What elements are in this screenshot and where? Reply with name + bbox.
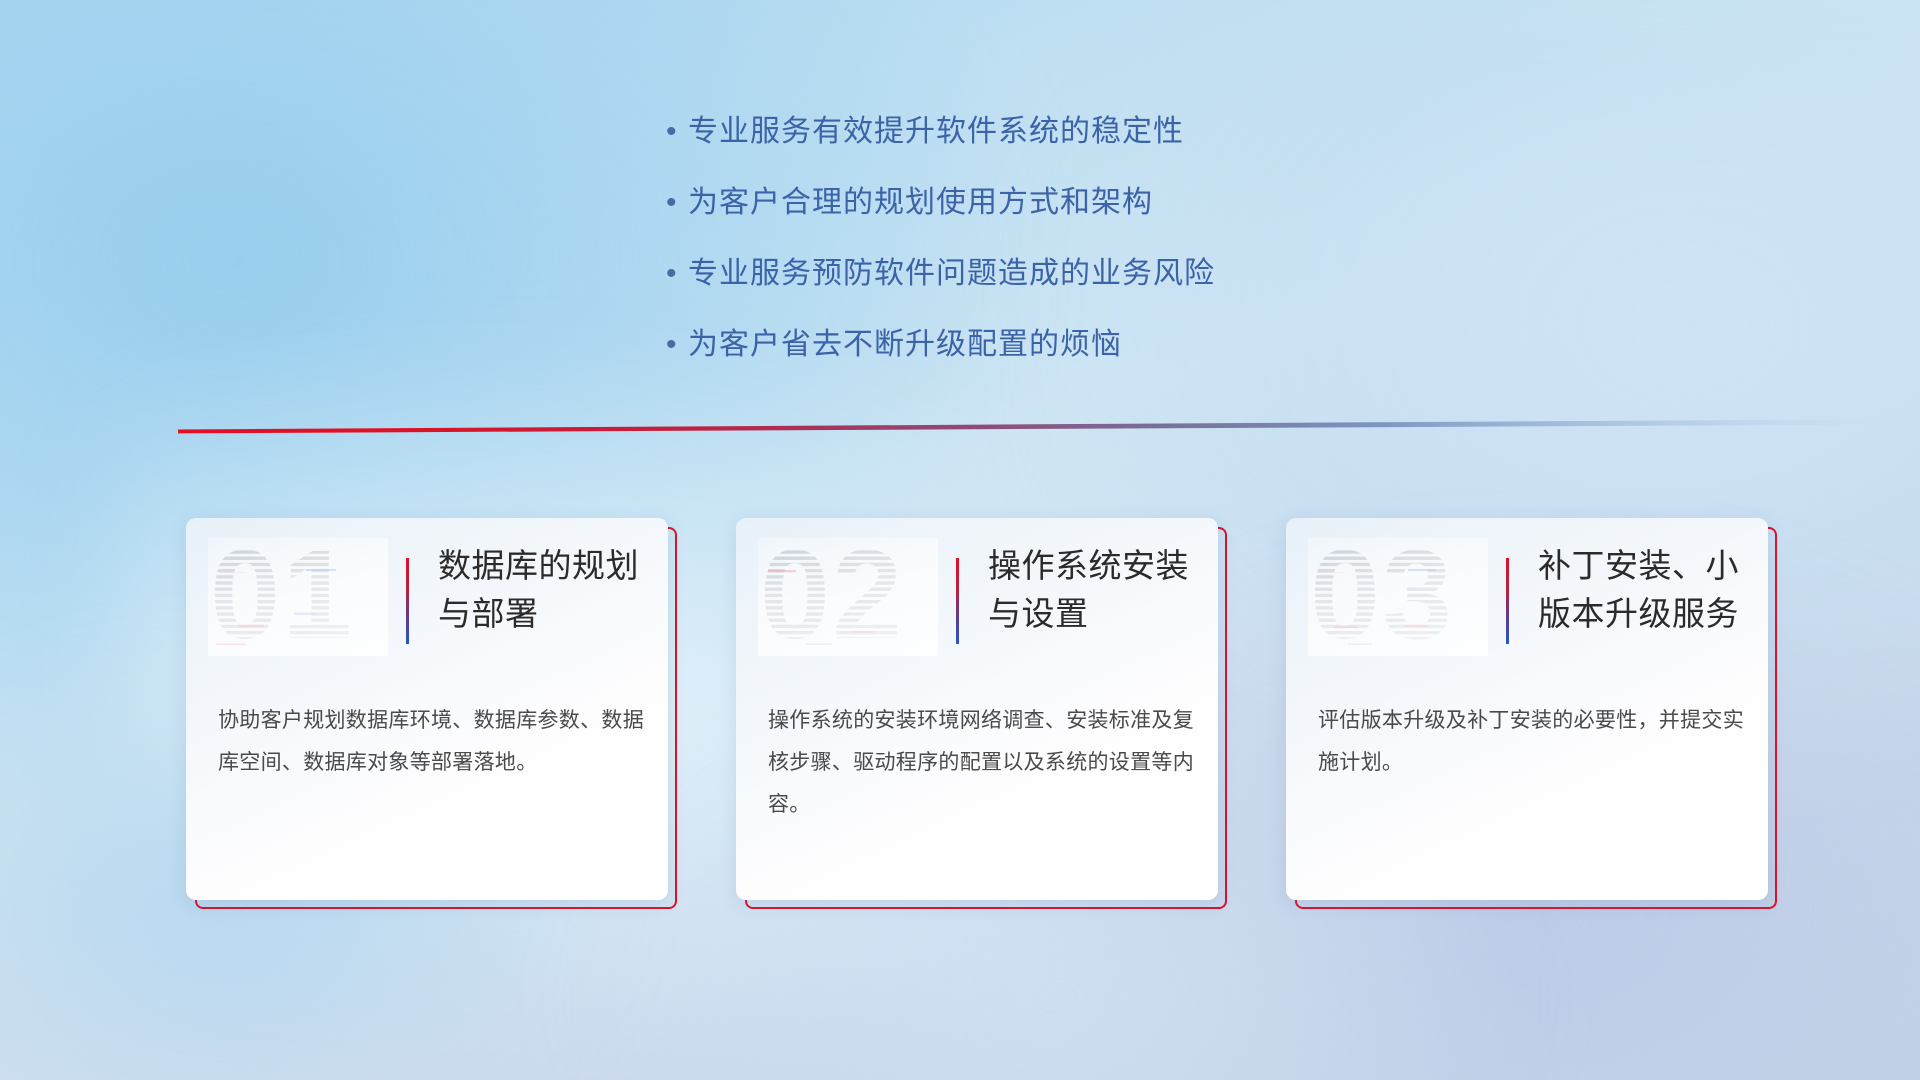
- bullet-marker-icon: •: [660, 181, 688, 225]
- slide-canvas: • 专业服务有效提升软件系统的稳定性 • 为客户合理的规划使用方式和架构 • 专…: [0, 0, 1920, 1080]
- card-description: 评估版本升级及补丁安装的必要性，并提交实施计划。: [1318, 700, 1744, 784]
- card-header: 01 数据库的规划与: [186, 518, 668, 676]
- list-item: • 专业服务预防软件问题造成的业务风险: [660, 252, 1420, 296]
- service-card-group: 01 数据库的规划与: [186, 518, 1746, 912]
- card-title-rule: [956, 558, 959, 644]
- card-header: 02 操作系统安装与: [736, 518, 1218, 676]
- card-surface: 03 补丁安装、小版: [1286, 518, 1768, 900]
- section-divider: [178, 418, 1878, 436]
- card-number-striped-01: 01: [208, 538, 388, 656]
- list-item: • 为客户省去不断升级配置的烦恼: [660, 323, 1420, 367]
- bullet-marker-icon: •: [660, 252, 688, 296]
- card-description: 操作系统的安装环境网络调查、安装标准及复核步骤、驱动程序的配置以及系统的设置等内…: [768, 700, 1194, 826]
- card-title: 操作系统安装与设置: [988, 542, 1200, 638]
- bullet-text: 专业服务有效提升软件系统的稳定性: [688, 110, 1184, 154]
- service-card[interactable]: 02 操作系统安装与: [736, 518, 1218, 900]
- card-title-rule: [1506, 558, 1509, 644]
- list-item: • 专业服务有效提升软件系统的稳定性: [660, 110, 1420, 154]
- service-card[interactable]: 01 数据库的规划与: [186, 518, 668, 900]
- card-surface: 01 数据库的规划与: [186, 518, 668, 900]
- card-surface: 02 操作系统安装与: [736, 518, 1218, 900]
- benefits-bullet-list: • 专业服务有效提升软件系统的稳定性 • 为客户合理的规划使用方式和架构 • 专…: [660, 110, 1420, 394]
- card-title-rule: [406, 558, 409, 644]
- bullet-text: 专业服务预防软件问题造成的业务风险: [688, 252, 1215, 296]
- service-card[interactable]: 03 补丁安装、小版: [1286, 518, 1768, 900]
- bullet-marker-icon: •: [660, 110, 688, 154]
- list-item: • 为客户合理的规划使用方式和架构: [660, 181, 1420, 225]
- card-number-striped-03: 03: [1308, 538, 1488, 656]
- bullet-text: 为客户合理的规划使用方式和架构: [688, 181, 1153, 225]
- card-number-striped-02: 02: [758, 538, 938, 656]
- card-title: 补丁安装、小版本升级服务: [1538, 542, 1750, 638]
- card-title: 数据库的规划与部署: [438, 542, 650, 638]
- card-header: 03 补丁安装、小版: [1286, 518, 1768, 676]
- bullet-text: 为客户省去不断升级配置的烦恼: [688, 323, 1122, 367]
- bullet-marker-icon: •: [660, 323, 688, 367]
- card-description: 协助客户规划数据库环境、数据库参数、数据库空间、数据库对象等部署落地。: [218, 700, 644, 784]
